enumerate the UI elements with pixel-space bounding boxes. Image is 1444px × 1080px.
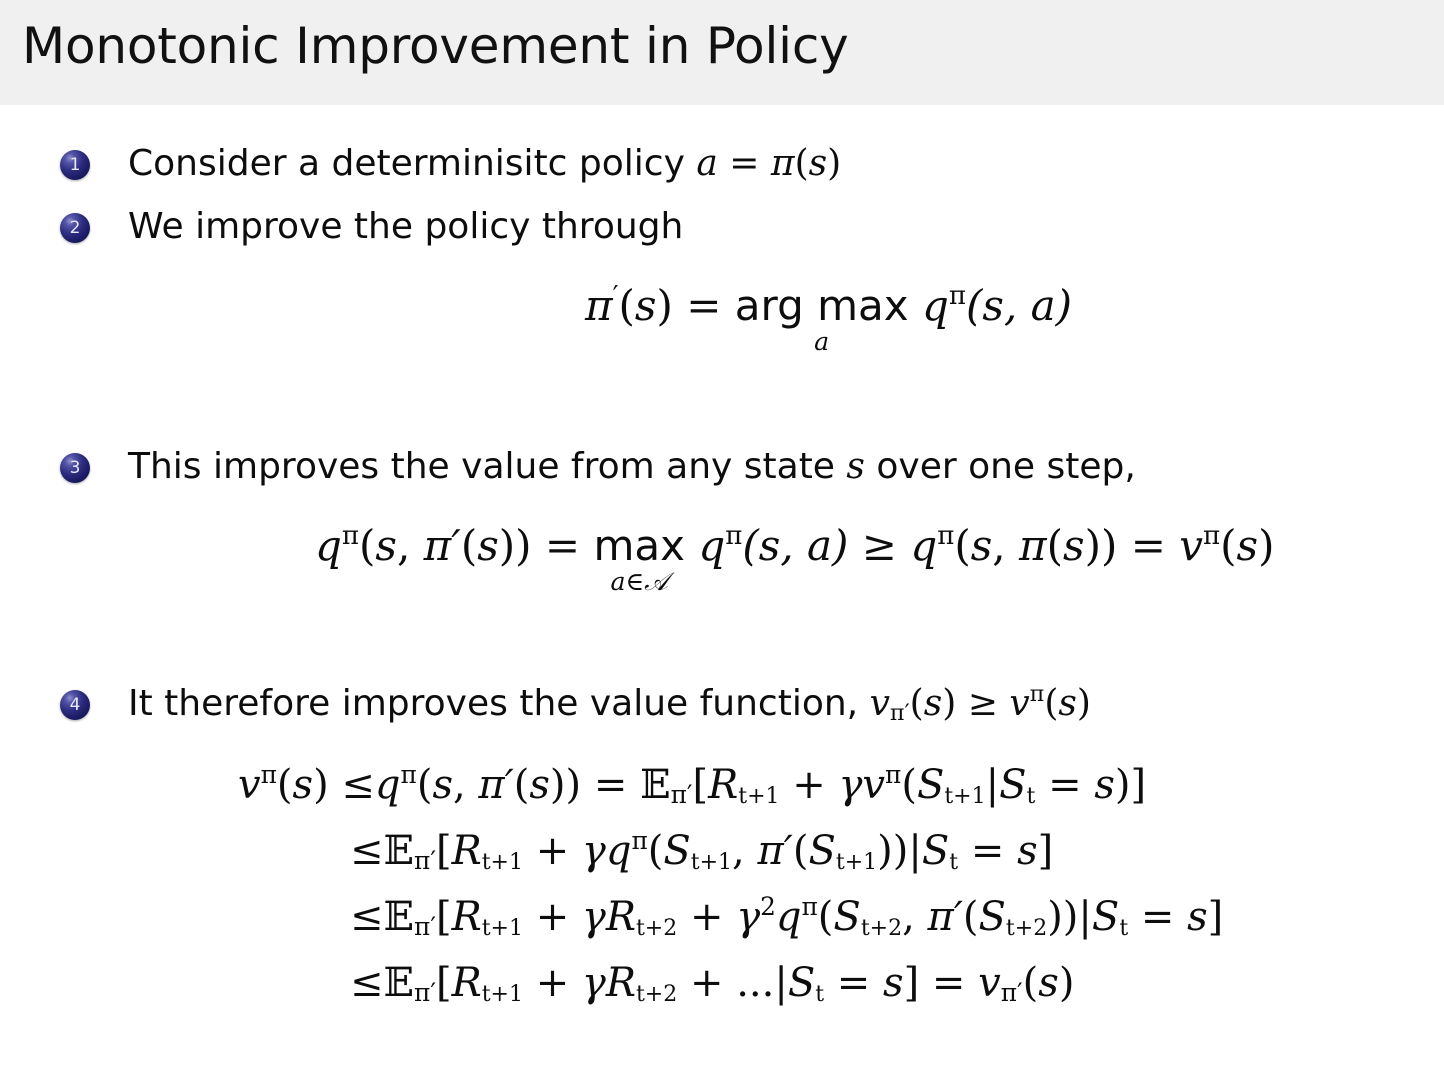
math-comma: , xyxy=(902,894,915,940)
math-S: S xyxy=(788,960,815,1006)
math-paren-open: ( xyxy=(359,521,375,570)
math-paren-close: )) xyxy=(1085,521,1118,570)
math-var-s: s xyxy=(375,521,397,570)
math-superscript-pi: π xyxy=(342,521,359,551)
math-paren-open: ( xyxy=(910,683,924,724)
math-S: S xyxy=(917,762,944,808)
math-q-args: (s, a) xyxy=(966,281,1072,330)
math-bar: | xyxy=(908,828,921,874)
display-equation-derivation: vπ(s) ≤qπ(s, π′(s)) = 𝔼π′[Rt+1 + γvπ(St+… xyxy=(238,765,1223,1003)
math-paren-close: )] xyxy=(1115,762,1146,808)
math-S: S xyxy=(922,828,949,874)
math-paren-close: ) xyxy=(1059,960,1075,1006)
math-prime: ′ xyxy=(613,281,619,311)
math-gamma: γ xyxy=(839,762,863,808)
math-S: S xyxy=(808,828,835,874)
math-bar: | xyxy=(1078,894,1091,940)
math-paren-open: ( xyxy=(793,828,809,874)
math-plus: + xyxy=(536,894,570,940)
math-var-s: s xyxy=(924,683,942,724)
math-equals: = xyxy=(594,762,628,808)
math-var-s: s xyxy=(809,143,827,184)
math-plus: + xyxy=(536,960,570,1006)
math-bar: | xyxy=(986,762,999,808)
math-expectation-symbol: 𝔼 xyxy=(640,762,671,808)
math-subscript-t1: t+1 xyxy=(482,850,523,875)
derivation-line-2: ≤𝔼π′[Rt+1 + γqπ(St+1, π′(St+1))|St = s] xyxy=(350,831,1223,871)
math-geq: ≥ xyxy=(862,521,897,570)
math-var-s: s xyxy=(1058,683,1076,724)
math-superscript-pi: π xyxy=(631,826,647,855)
math-equals: = xyxy=(932,960,966,1006)
math-paren-close: )) xyxy=(499,521,532,570)
list-item-text: This improves the value from any state s… xyxy=(128,449,1136,485)
slide-header-band: Monotonic Improvement in Policy xyxy=(0,0,1444,105)
math-paren-close: )) xyxy=(550,762,581,808)
math-geq: ≥ xyxy=(968,683,998,724)
math-paren-open: ( xyxy=(818,894,834,940)
math-subscript-t: t xyxy=(949,850,958,875)
math-equals: = xyxy=(1141,894,1175,940)
math-v: v xyxy=(978,960,1001,1006)
math-paren-open: ( xyxy=(1047,521,1063,570)
math-paren-close: ) xyxy=(313,762,329,808)
math-plus: + xyxy=(792,762,826,808)
math-equals: = xyxy=(837,960,871,1006)
math-expectation-symbol: 𝔼 xyxy=(384,828,415,874)
math-equals: = xyxy=(1131,521,1166,570)
math-subscript-t2: t+2 xyxy=(636,916,677,941)
derivation-line-4: ≤𝔼π′[Rt+1 + γRt+2 + ...|St = s] = vπ′(s) xyxy=(350,963,1223,1003)
math-expectation-symbol: 𝔼 xyxy=(384,894,415,940)
math-subscript-pi-prime: π′ xyxy=(1001,978,1023,1007)
math-plus: + xyxy=(690,960,724,1006)
math-paren-open: ( xyxy=(277,762,293,808)
math-paren-open: ( xyxy=(514,762,530,808)
bullet-number: 2 xyxy=(60,213,90,243)
math-paren-close: )) xyxy=(877,828,908,874)
math-plus: + xyxy=(536,828,570,874)
math-q: q xyxy=(910,521,937,570)
math-S: S xyxy=(1092,894,1119,940)
math-q: q xyxy=(776,894,802,940)
math-paren-open: ( xyxy=(963,894,979,940)
list-item-label: Consider a determinisitc policy xyxy=(128,143,685,184)
math-superscript-pi: π xyxy=(885,760,901,789)
math-superscript-pi: π xyxy=(1203,521,1220,551)
math-S: S xyxy=(663,828,690,874)
math-superscript-pi: π xyxy=(949,281,966,311)
math-R: R xyxy=(708,762,738,808)
math-subscript-t1: t+1 xyxy=(482,916,523,941)
math-bracket-open: [ xyxy=(436,960,452,1006)
math-comma: , xyxy=(732,828,745,874)
math-bracket-close: ] xyxy=(904,960,920,1006)
bullet-marker-1: 1 xyxy=(60,150,90,180)
math-R: R xyxy=(452,894,482,940)
list-item: 2 We improve the policy through xyxy=(60,213,683,249)
inline-math-value-improvement: vπ′(s) ≥ vπ(s) xyxy=(858,683,1091,724)
math-var-s: s xyxy=(1063,521,1085,570)
math-superscript-pi: π xyxy=(937,521,954,551)
math-comma: , xyxy=(453,762,466,808)
math-superscript-2: 2 xyxy=(760,892,776,921)
bullet-number: 1 xyxy=(60,150,90,180)
math-paren-open: ( xyxy=(901,762,917,808)
math-paren-close: ) xyxy=(656,281,672,330)
bullet-marker-3: 3 xyxy=(60,453,90,483)
math-paren-close: )) xyxy=(1047,894,1078,940)
math-leq: ≤ xyxy=(341,762,375,808)
math-subscript-t: t xyxy=(815,982,824,1007)
display-equation-policy-improvement: π′(s) = arg max a qπ(s, a) xyxy=(585,285,1072,327)
math-var-s: s xyxy=(1038,960,1059,1006)
math-R: R xyxy=(452,960,482,1006)
math-subscript-pi-prime: π′ xyxy=(414,912,436,941)
math-pi: π xyxy=(585,281,613,330)
math-subscript-t2: t+2 xyxy=(861,916,902,941)
math-paren-open: ( xyxy=(1044,683,1058,724)
math-v: v xyxy=(1009,683,1029,724)
math-pi-prime: π′ xyxy=(928,894,963,940)
math-pi-prime: π′ xyxy=(424,521,461,570)
list-item-text: It therefore improves the value function… xyxy=(128,686,1091,722)
math-superscript-pi: π xyxy=(725,521,742,551)
math-leq: ≤ xyxy=(350,894,384,940)
math-leq: ≤ xyxy=(350,828,384,874)
math-q: q xyxy=(375,762,401,808)
math-subscript-t1: t+1 xyxy=(836,850,877,875)
display-equation-greedy-improvement: qπ(s, π′(s)) = max a∈𝒜 qπ(s, a) ≥ qπ(s, … xyxy=(315,525,1274,567)
math-bracket-open: [ xyxy=(693,762,709,808)
math-leq: ≤ xyxy=(350,960,384,1006)
math-equals: = xyxy=(971,828,1005,874)
math-max-label: max xyxy=(593,525,685,567)
math-var-s: s xyxy=(1017,828,1038,874)
math-subscript-pi-prime: π′ xyxy=(890,700,910,726)
list-item: 4 It therefore improves the value functi… xyxy=(60,690,1091,726)
math-subscript-t1: t+1 xyxy=(482,982,523,1007)
math-bracket-close: ] xyxy=(1208,894,1224,940)
math-v: v xyxy=(870,683,890,724)
math-comma: , xyxy=(992,521,1005,570)
page-title: Monotonic Improvement in Policy xyxy=(22,17,849,75)
math-var-s: s xyxy=(883,960,904,1006)
math-equals: = xyxy=(686,281,721,330)
bullet-marker-2: 2 xyxy=(60,213,90,243)
math-var-s: s xyxy=(846,446,864,487)
math-var-s: s xyxy=(1237,521,1259,570)
math-pi-prime: π′ xyxy=(478,762,513,808)
math-R: R xyxy=(606,894,636,940)
math-q: q xyxy=(315,521,342,570)
math-S: S xyxy=(999,762,1026,808)
math-bar: | xyxy=(774,960,787,1006)
math-q-args: (s, a) xyxy=(742,521,848,570)
math-var-s: s xyxy=(477,521,499,570)
math-var-s: s xyxy=(529,762,550,808)
math-subscript-t1: t+1 xyxy=(944,784,985,809)
math-equals: = xyxy=(545,521,580,570)
math-var-s: s xyxy=(293,762,314,808)
math-R: R xyxy=(452,828,482,874)
math-paren-open: ( xyxy=(619,281,635,330)
math-gamma: γ xyxy=(582,894,606,940)
math-paren-open: ( xyxy=(954,521,970,570)
math-plus: + xyxy=(690,894,724,940)
math-paren-open: ( xyxy=(461,521,477,570)
list-item: 1 Consider a determinisitc policy a = π(… xyxy=(60,150,841,186)
math-subscript-t: t xyxy=(1119,916,1128,941)
math-gamma: γ xyxy=(582,828,606,874)
math-paren-open: ( xyxy=(1023,960,1039,1006)
math-expectation-symbol: 𝔼 xyxy=(384,960,415,1006)
derivation-line-3: ≤𝔼π′[Rt+1 + γRt+2 + γ2qπ(St+2, π′(St+2))… xyxy=(350,897,1223,937)
list-item-text: We improve the policy through xyxy=(128,209,683,245)
math-paren-open: ( xyxy=(417,762,433,808)
math-comma: , xyxy=(397,521,410,570)
math-subscript-t1: t+1 xyxy=(691,850,732,875)
list-item-label-after: over one step, xyxy=(876,446,1135,487)
math-superscript-pi: π xyxy=(401,760,417,789)
math-v: v xyxy=(862,762,885,808)
math-var-s: s xyxy=(1187,894,1208,940)
bullet-number: 3 xyxy=(60,453,90,483)
math-q: q xyxy=(922,281,949,330)
math-subscript-pi-prime: π′ xyxy=(414,846,436,875)
math-paren-open: ( xyxy=(795,143,809,184)
math-subscript-t1: t+1 xyxy=(738,784,779,809)
math-S: S xyxy=(833,894,860,940)
math-pi: π xyxy=(771,143,795,184)
slide-body: 1 Consider a determinisitc policy a = π(… xyxy=(0,105,1444,1080)
math-subscript-t: t xyxy=(1027,784,1036,809)
math-argmax-operator: arg max a xyxy=(735,285,909,327)
math-v: v xyxy=(1179,521,1203,570)
list-item-label: This improves the value from any state xyxy=(128,446,835,487)
math-subscript-pi-prime: π′ xyxy=(671,780,693,809)
inline-math-policy-def: a = π(s) xyxy=(685,143,841,184)
math-superscript-pi: π xyxy=(801,892,817,921)
list-item: 3 This improves the value from any state… xyxy=(60,453,1136,489)
math-pi: π xyxy=(1019,521,1047,570)
math-argmax-label: arg max xyxy=(735,285,909,327)
math-q: q xyxy=(698,521,725,570)
math-subscript-t2: t+2 xyxy=(1006,916,1047,941)
math-var-s: s xyxy=(1094,762,1115,808)
math-var-s: s xyxy=(971,521,993,570)
math-argmax-limit: a xyxy=(814,329,829,354)
math-equals: = xyxy=(1048,762,1082,808)
math-bracket-close: ] xyxy=(1038,828,1054,874)
math-pi-prime: π′ xyxy=(757,828,792,874)
math-subscript-t2: t+2 xyxy=(636,982,677,1007)
math-bracket-open: [ xyxy=(436,828,452,874)
math-bracket-open: [ xyxy=(436,894,452,940)
math-var-s: s xyxy=(432,762,453,808)
math-var-s: s xyxy=(635,281,657,330)
math-gamma: γ xyxy=(582,960,606,1006)
math-gamma: γ xyxy=(736,894,760,940)
math-superscript-pi: π xyxy=(261,760,277,789)
bullet-marker-4: 4 xyxy=(60,690,90,720)
math-subscript-pi-prime: π′ xyxy=(414,978,436,1007)
math-S: S xyxy=(979,894,1006,940)
derivation-line-1: vπ(s) ≤qπ(s, π′(s)) = 𝔼π′[Rt+1 + γvπ(St+… xyxy=(238,765,1223,805)
math-var-a: a xyxy=(696,143,717,184)
math-superscript-pi: π xyxy=(1030,681,1045,707)
bullet-number: 4 xyxy=(60,690,90,720)
math-paren-close: ) xyxy=(1077,683,1091,724)
math-max-operator: max a∈𝒜 xyxy=(593,525,685,567)
math-equals: = xyxy=(729,143,759,184)
math-R: R xyxy=(606,960,636,1006)
math-paren-close: ) xyxy=(1258,521,1274,570)
list-item-label: It therefore improves the value function… xyxy=(128,683,858,724)
math-paren-close: ) xyxy=(827,143,841,184)
math-paren-open: ( xyxy=(648,828,664,874)
math-paren-open: ( xyxy=(1220,521,1236,570)
math-ellipsis: ... xyxy=(736,960,774,1006)
math-paren-close: ) xyxy=(942,683,956,724)
math-q: q xyxy=(606,828,632,874)
list-item-text: Consider a determinisitc policy a = π(s) xyxy=(128,146,841,182)
math-v: v xyxy=(238,762,261,808)
math-max-limit: a∈𝒜 xyxy=(610,569,668,594)
